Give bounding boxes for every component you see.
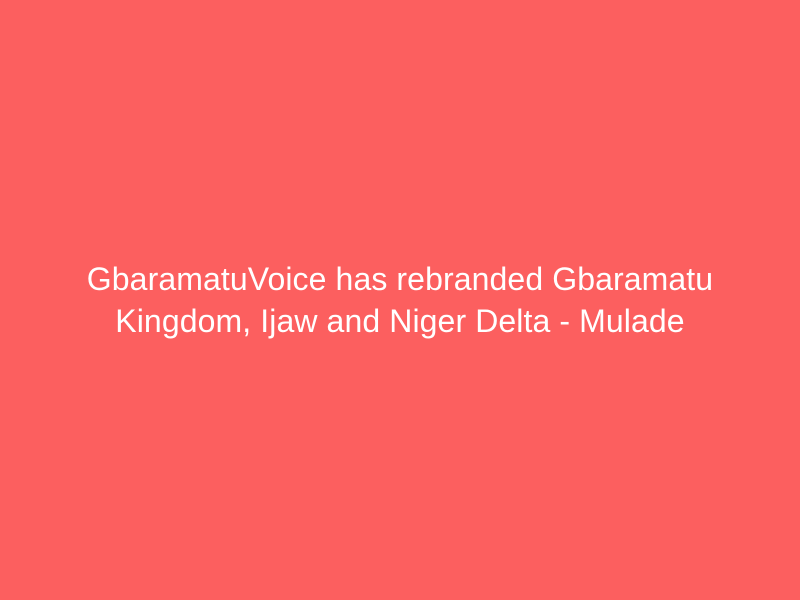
article-headline: GbaramatuVoice has rebranded Gbaramatu K… (50, 258, 750, 342)
article-placeholder-card: GbaramatuVoice has rebranded Gbaramatu K… (0, 0, 800, 600)
headline-block: GbaramatuVoice has rebranded Gbaramatu K… (50, 258, 750, 342)
